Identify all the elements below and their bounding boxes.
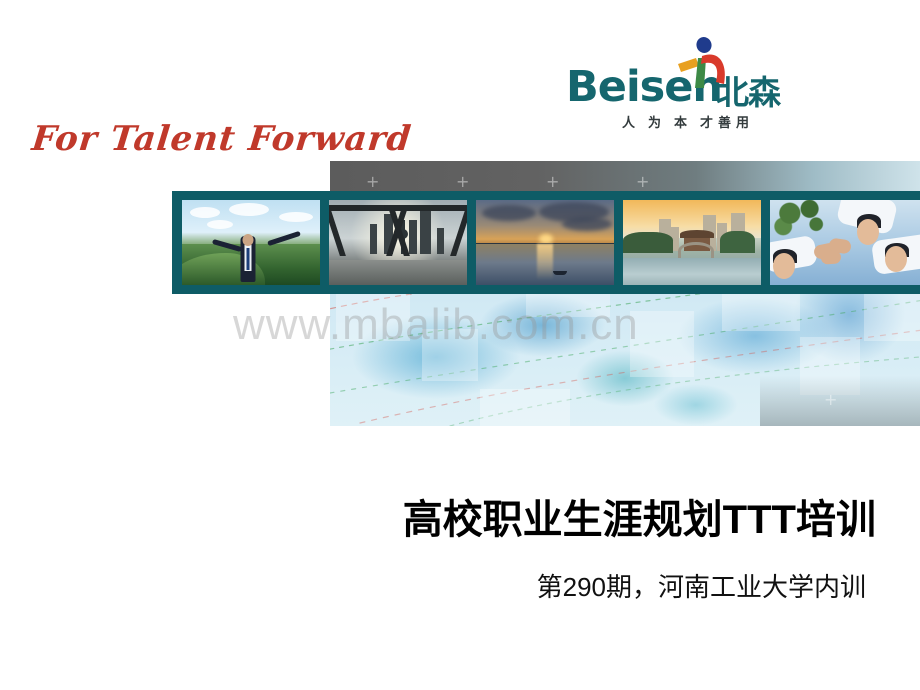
photo-bridge-skyline — [329, 200, 467, 285]
plus-marker-icon: + — [456, 174, 469, 190]
logo-tagline: 人为本才善用 — [622, 112, 754, 131]
slide-title: 高校职业生涯规划TTT培训 — [0, 487, 876, 545]
plus-marker-icon: + — [636, 174, 649, 190]
presentation-slide: Beisen 北森 人为本才善用 For Talent Forward — [0, 0, 920, 690]
photo-team-hands — [770, 200, 920, 285]
logo-tagline-right: 才善用 — [700, 115, 754, 130]
slide-subtitle: 第290期，河南工业大学内训 — [0, 567, 866, 604]
photo-arch-bridge-town — [623, 200, 761, 285]
photo-man-on-mountain — [182, 200, 320, 285]
plus-marker-icon: + — [366, 174, 379, 190]
logo-tagline-left: 人为本 — [622, 115, 700, 130]
slogan-for-talent-forward: For Talent Forward — [30, 119, 414, 159]
beisen-logo: Beisen 北森 人为本才善用 — [566, 38, 866, 138]
photo-river-sunset — [476, 200, 614, 285]
logo-chinese-name: 北森 — [716, 76, 780, 109]
band-bottom-shading: + — [760, 376, 920, 426]
photo-filmstrip — [172, 191, 920, 294]
plus-marker-icon: + — [546, 174, 559, 190]
plus-marker-icon: + — [824, 392, 837, 408]
